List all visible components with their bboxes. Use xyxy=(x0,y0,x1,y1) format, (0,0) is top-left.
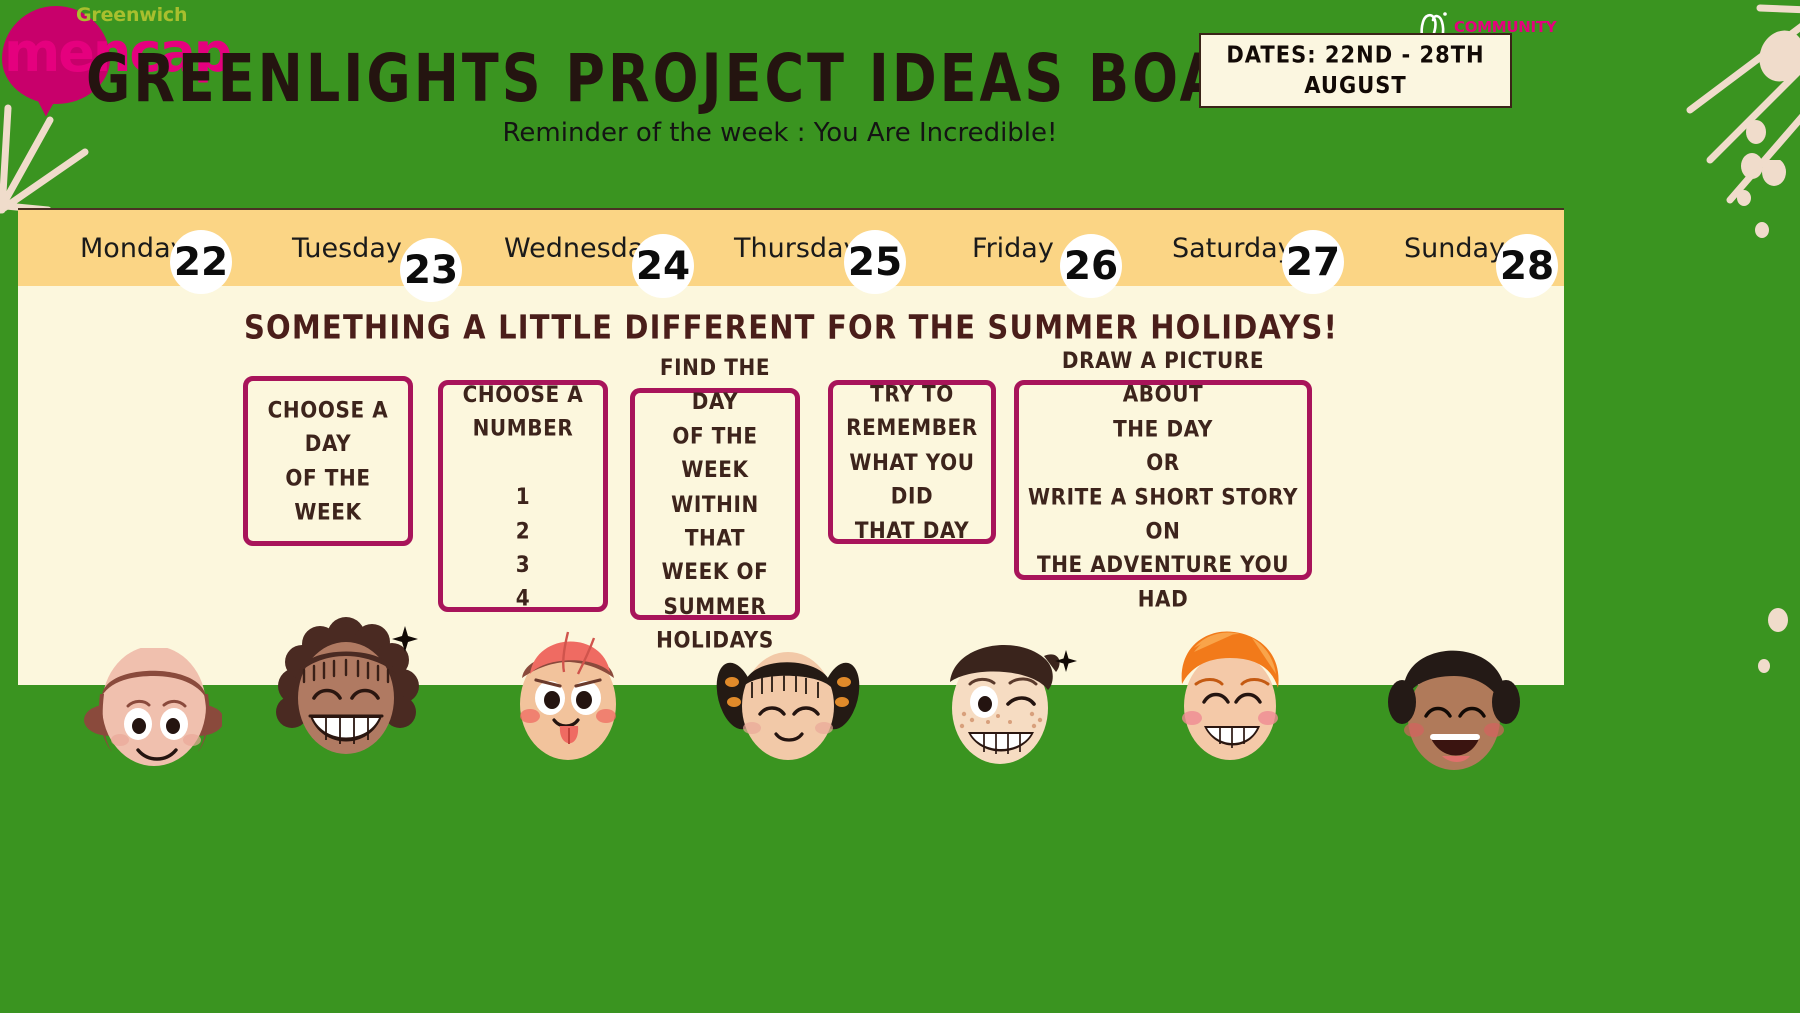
face-boy-freckles-wink xyxy=(928,632,1074,768)
date-range-badge: DATES: 22ND - 28TH AUGUST xyxy=(1199,33,1512,108)
date-badge-text: DATES: 22ND - 28TH AUGUST xyxy=(1226,39,1484,101)
decorative-leaf-top-right xyxy=(1560,0,1800,230)
face-girl-dark-hair-laughing xyxy=(1380,646,1530,774)
reminder-of-the-week: Reminder of the week : You Are Incredibl… xyxy=(0,118,1560,148)
day-date-circle-thursday: 25 xyxy=(844,230,906,294)
activity-box-choose-number[interactable]: CHOOSE A NUMBER 1 2 3 4 xyxy=(438,380,608,612)
activity-box-draw-or-write[interactable]: DRAW A PICTURE ABOUT THE DAY OR WRITE A … xyxy=(1014,380,1312,580)
day-label-tuesday: Tuesday xyxy=(292,233,402,264)
day-date-circle-monday: 22 xyxy=(170,230,232,294)
activity-box-find-day[interactable]: FIND THE DAY OF THE WEEK WITHIN THAT WEE… xyxy=(630,388,800,620)
day-label-thursday: Thursday xyxy=(734,233,860,264)
panel-heading: SOMETHING A LITTLE DIFFERENT FOR THE SUM… xyxy=(18,307,1564,346)
sparkle-star-near-wink xyxy=(1055,650,1077,672)
date-badge-line2: AUGUST xyxy=(1304,73,1406,99)
face-girl-braids-content xyxy=(708,640,868,770)
sparkle-star-near-afro xyxy=(392,626,418,652)
day-tabs-row: Monday 22 Tuesday 23 Wednesday 24 Thursd… xyxy=(18,208,1564,288)
day-label-sunday: Sunday xyxy=(1404,233,1505,264)
face-girl-brown-pigtails xyxy=(46,648,222,768)
face-child-red-cap-tongue xyxy=(498,626,638,766)
activity-text-find-day: FIND THE DAY OF THE WEEK WITHIN THAT WEE… xyxy=(641,351,789,657)
day-date-circle-tuesday: 23 xyxy=(400,238,462,302)
day-date-circle-saturday: 27 xyxy=(1282,230,1344,294)
content-panel: SOMETHING A LITTLE DIFFERENT FOR THE SUM… xyxy=(18,286,1564,685)
day-date-circle-friday: 26 xyxy=(1060,234,1122,298)
activity-text-choose-day: CHOOSE A DAY OF THE WEEK xyxy=(254,393,402,529)
day-label-friday: Friday xyxy=(972,233,1054,264)
decorative-sparkle-top-right xyxy=(1722,150,1782,220)
face-boy-orange-hair xyxy=(1160,624,1302,768)
activity-box-remember[interactable]: TRY TO REMEMBER WHAT YOU DID THAT DAY xyxy=(828,380,996,544)
activity-text-choose-number: CHOOSE A NUMBER 1 2 3 4 xyxy=(463,377,584,615)
day-label-saturday: Saturday xyxy=(1172,233,1294,264)
decorative-dots-right xyxy=(1744,160,1794,680)
day-date-circle-sunday: 28 xyxy=(1496,234,1558,298)
activity-text-draw-or-write: DRAW A PICTURE ABOUT THE DAY OR WRITE A … xyxy=(1025,344,1301,616)
activity-box-choose-day[interactable]: CHOOSE A DAY OF THE WEEK xyxy=(243,376,413,546)
day-date-circle-wednesday: 24 xyxy=(632,234,694,298)
poster-canvas: Greenwich mencap COMMUNITY FUND GREENLIG… xyxy=(0,0,1800,1013)
activity-text-remember: TRY TO REMEMBER WHAT YOU DID THAT DAY xyxy=(839,377,985,547)
date-badge-line1: DATES: 22ND - 28TH xyxy=(1226,42,1484,68)
